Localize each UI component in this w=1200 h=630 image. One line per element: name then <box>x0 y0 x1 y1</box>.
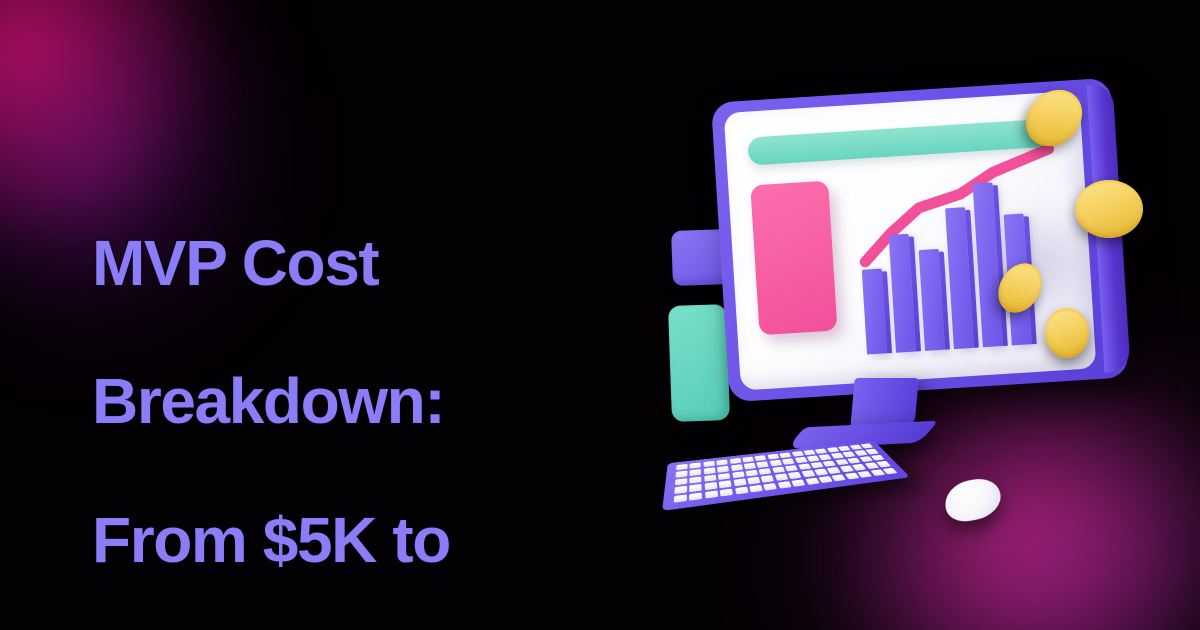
keyboard-key <box>704 475 716 482</box>
keyboard-key <box>705 482 717 490</box>
keyboard-key <box>761 475 774 482</box>
keyboard-key <box>843 452 856 458</box>
bar-3 <box>919 248 945 351</box>
keyboard-key <box>823 460 836 466</box>
keyboard-key <box>729 458 741 464</box>
keyboard-key <box>859 456 873 462</box>
keyboard-key <box>810 462 823 468</box>
keyboard-key <box>676 471 688 478</box>
keyboard-key <box>838 446 851 451</box>
keyboard-key <box>718 473 730 480</box>
keyboard-key <box>827 467 841 474</box>
keyboard-key <box>719 480 732 488</box>
keyboard-key <box>747 477 760 484</box>
keyboard-key <box>717 466 729 473</box>
keyboard-key <box>772 466 785 473</box>
page-title: MVP Cost Breakdown: From $5K to $100K La… <box>92 160 712 630</box>
bar-4 <box>945 207 974 349</box>
keyboard-key <box>775 473 788 480</box>
keyboard-key <box>801 470 815 477</box>
keyboard-key <box>690 484 702 492</box>
keyboard-key <box>798 463 811 470</box>
keyboard-key <box>840 465 854 472</box>
title-line-1: MVP Cost <box>92 229 712 298</box>
keyboard-key <box>704 468 716 475</box>
share-card-canvas: MVP Cost Breakdown: From $5K to $100K La… <box>0 0 1200 630</box>
keyboard-key <box>757 461 769 467</box>
keyboard <box>670 430 900 510</box>
keyboard-key <box>732 471 744 478</box>
keyboard-key <box>831 453 844 459</box>
keyboard-key <box>745 470 758 477</box>
keyboard-key <box>690 462 701 468</box>
keyboard-key <box>847 458 861 464</box>
keyboard-key <box>675 478 687 485</box>
keyboard-key <box>814 469 828 476</box>
keyboard-key <box>827 447 840 453</box>
keyboard-key <box>744 463 756 469</box>
keyboard-key <box>676 464 687 471</box>
keyboard-key <box>819 454 832 460</box>
keyboard-key <box>785 465 798 472</box>
keyboard-key <box>792 451 804 457</box>
title-line-2: Breakdown: <box>92 367 712 436</box>
keyboard-key <box>717 459 728 465</box>
dashboard-side-panel <box>750 181 837 336</box>
keyboard-key <box>803 450 815 456</box>
keyboard-key <box>703 461 714 467</box>
keyboard-key <box>770 460 782 466</box>
bar-1 <box>862 268 887 354</box>
mouse <box>944 475 1002 526</box>
title-line-3: From $5K to <box>92 506 712 575</box>
bar-2 <box>889 234 916 353</box>
keyboard-key <box>674 486 687 494</box>
keyboard-key <box>767 454 779 460</box>
keyboard-key <box>690 469 702 476</box>
keyboard-key <box>782 458 795 464</box>
keyboard-key <box>815 448 828 454</box>
keyboard-key <box>742 457 754 463</box>
keyboard-key <box>731 464 743 471</box>
keyboard-key <box>852 464 866 471</box>
keyboard-key <box>835 459 849 465</box>
floating-teal-card <box>668 304 730 422</box>
hero-illustration <box>660 40 1180 580</box>
coin-icon-2 <box>1075 180 1143 238</box>
keyboard-key <box>759 468 772 475</box>
keyboard-key <box>854 450 867 456</box>
keyboard-key <box>849 445 862 450</box>
keyboard-key <box>795 457 808 463</box>
keyboard-key <box>807 456 820 462</box>
bar-chart <box>856 162 1067 354</box>
keyboard-key <box>733 479 746 487</box>
coin-icon-4 <box>1045 308 1089 358</box>
keyboard-key <box>788 472 802 479</box>
keyboard-key <box>690 476 702 483</box>
keyboard-key <box>779 452 791 458</box>
keyboard-key <box>755 455 767 461</box>
